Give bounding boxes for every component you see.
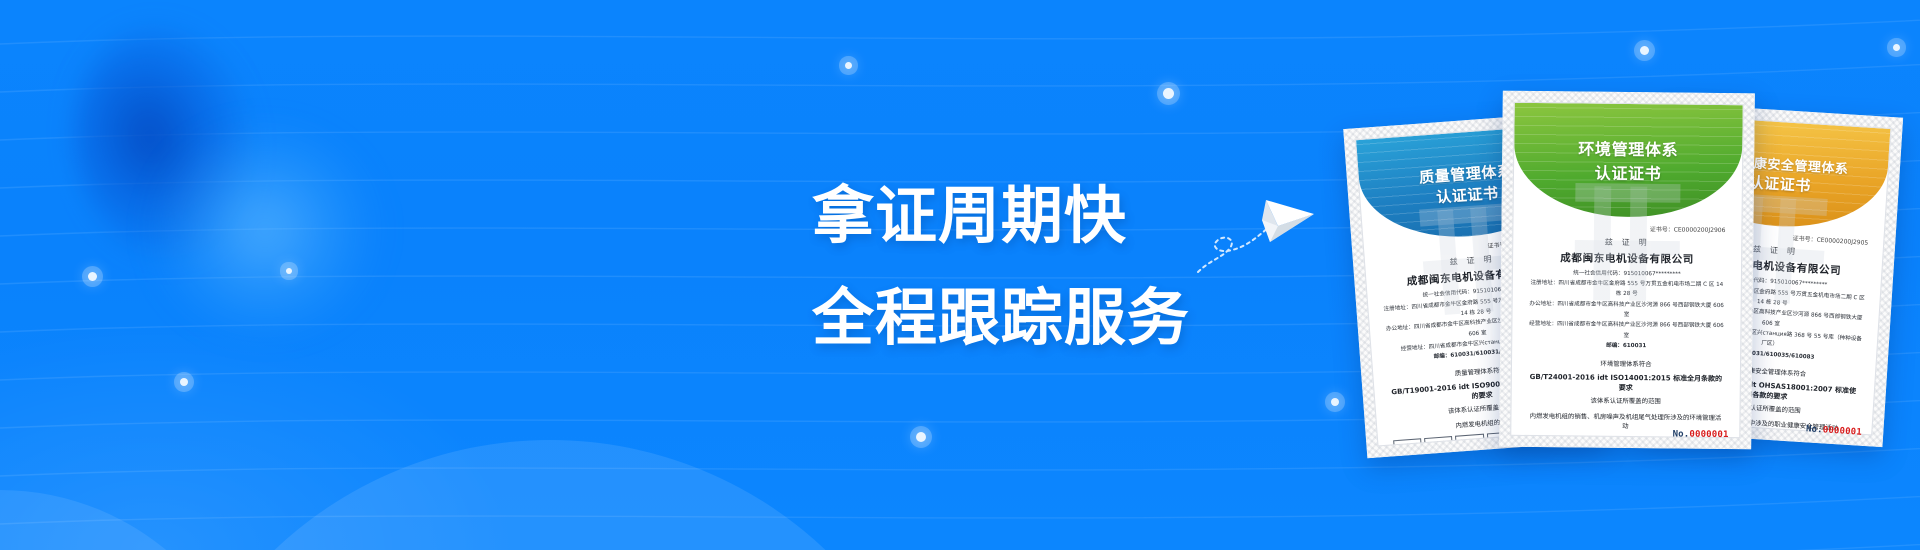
certificate-number: No.0000001 xyxy=(1673,430,1729,441)
certificate-inner: 环境管理体系 认证证书 证书号：CE0000200J2906 兹 证 明 成都闽… xyxy=(1510,102,1743,438)
certificate-proof-label: 兹 证 明 xyxy=(1529,235,1725,248)
decorative-light-glow xyxy=(150,130,380,330)
certificate-serial: 证书号：CE0000200J2906 xyxy=(1529,222,1725,233)
certificate-group: 质量管理体系 认证证书 证书号：CE0000200J2906 兹 证 明 成都闽… xyxy=(1355,78,1920,478)
hero-banner: 拿证周期快 全程跟踪服务 质量管理体系 认证证书 证书号：CE0000200 xyxy=(0,0,1920,550)
certificate-card-environment[interactable]: 环境管理体系 认证证书 证书号：CE0000200J2906 兹 证 明 成都闽… xyxy=(1499,91,1755,450)
certificate-title-line2: 认证证书 xyxy=(1435,182,1499,208)
paper-plane-icon xyxy=(1196,186,1316,276)
certificate-system-label: 环境管理体系符合 xyxy=(1528,358,1724,369)
certificate-title-line2: 认证证书 xyxy=(1748,171,1812,196)
certificate-title-line2: 认证证书 xyxy=(1595,160,1662,185)
headline-line-2: 全程跟踪服务 xyxy=(812,267,1190,369)
certificate-header-environment: 环境管理体系 认证证书 xyxy=(1514,103,1743,218)
particle-dot xyxy=(1331,398,1339,406)
particle-dot xyxy=(1163,88,1174,99)
headline-block: 拿证周期快 全程跟踪服务 xyxy=(812,165,1190,369)
certificate-number-prefix: No. xyxy=(1806,424,1823,435)
certificate-address-1: 注册地址：四川省成都市金牛区金府路 555 号万贯五金机电市场二期 C 区 14… xyxy=(1529,278,1725,301)
certificate-address-2: 办公地址：四川省成都市金牛区高科技产业区沙河源 866 号西部钢铁大厦 606 … xyxy=(1528,299,1724,322)
headline-line-1: 拿证周期快 xyxy=(812,165,1190,267)
certificate-scope: 内燃发电机组的销售、机房噪声及机组尾气处理所涉及的环境管理活动 xyxy=(1527,411,1723,431)
certificate-title-line1: 环境管理体系 xyxy=(1578,136,1678,161)
particle-dot xyxy=(845,62,852,69)
certificate-body: 证书号：CE0000200J2906 兹 证 明 成都闽东电机设备有限公司 统一… xyxy=(1528,222,1726,397)
particle-dot xyxy=(1893,44,1900,51)
certificate-company: 成都闽东电机设备有限公司 xyxy=(1529,249,1725,266)
particle-dot xyxy=(916,432,926,442)
certificate-number-prefix: No. xyxy=(1673,430,1690,440)
certificate-address-3: 经营地址：四川省成都市金牛区高科技产业区沙河源 866 号西部钢铁大厦 606 … xyxy=(1528,319,1724,342)
particle-dot xyxy=(286,268,292,274)
particle-dot xyxy=(1640,46,1649,55)
particle-dot xyxy=(88,272,97,281)
certificate-scope-label: 该体系认证所覆盖的范围 xyxy=(1528,395,1724,406)
certificate-standard: GB/T24001-2016 idt ISO14001:2015 标准全月条款的… xyxy=(1528,372,1724,394)
certificate-number-value: 0000001 xyxy=(1689,430,1728,440)
certificate-postcode: 邮编：610031 xyxy=(1528,340,1724,352)
particle-dot xyxy=(180,378,188,386)
